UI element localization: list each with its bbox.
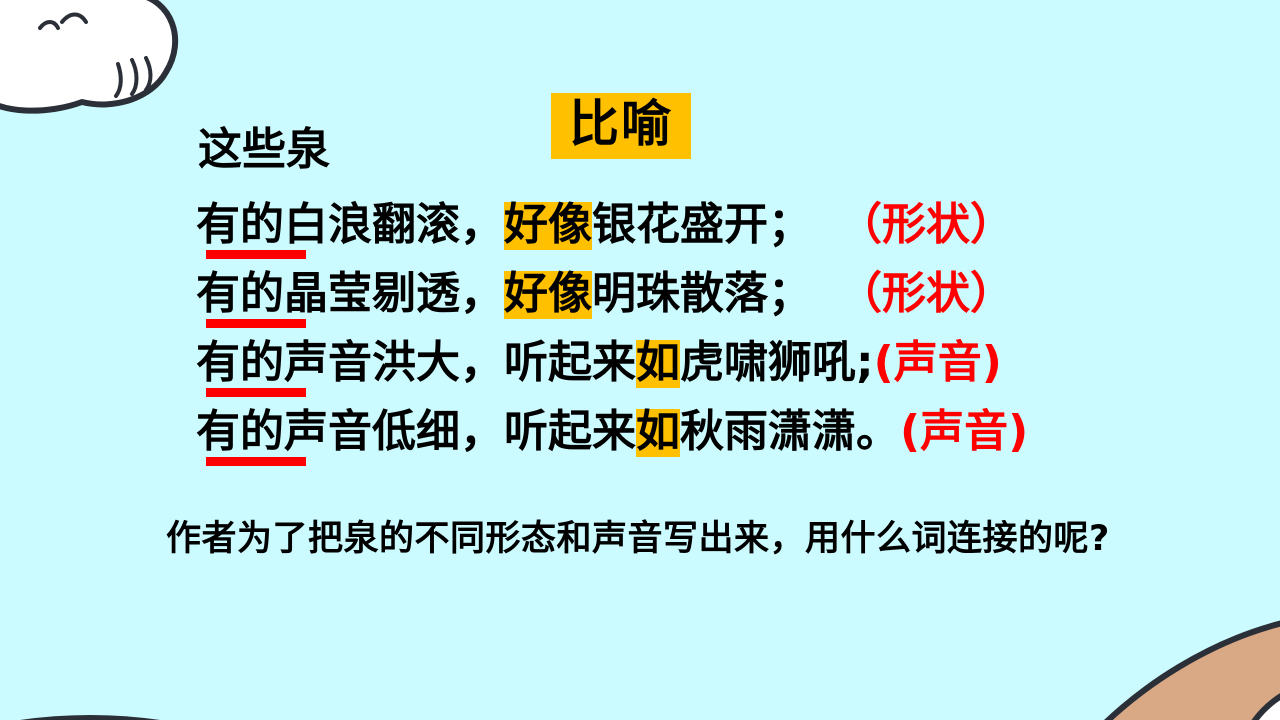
question-text: 作者为了把泉的不同形态和声音写出来，用什么词连接的呢? (166, 516, 1126, 562)
line-subject: 有的 (196, 341, 284, 385)
line-connector: 如 (636, 340, 680, 388)
subject-underline (206, 388, 306, 397)
line-body: 声音低细，听起来 (284, 410, 636, 454)
line-body: 白浪翻滚， (284, 203, 504, 247)
line-predicate: 秋雨潇潇。 (680, 410, 900, 454)
intro-line: 这些泉 (198, 128, 330, 172)
poem-line-3: 有的声音洪大，听起来如虎啸狮吼;(声音) (196, 340, 1002, 388)
poem-text-block: 这些泉 有的白浪翻滚，好像银花盛开；（形状） 有的晶莹剔透，好像明珠散落；（形状… (0, 0, 1280, 720)
line-predicate: 虎啸狮吼; (680, 341, 874, 385)
line-connector: 好像 (504, 202, 592, 250)
poem-line-4: 有的声音低细，听起来如秋雨潇潇。(声音) (196, 409, 1028, 457)
line-subject: 有的 (196, 203, 284, 247)
subject-underline (206, 250, 306, 259)
line-tag: （形状） (838, 203, 1014, 247)
line-body: 晶莹剔透， (284, 272, 504, 316)
line-subject: 有的 (196, 410, 284, 454)
subject-underline (206, 457, 306, 466)
slide-canvas: 比喻 这些泉 有的白浪翻滚，好像银花盛开；（形状） 有的晶莹剔透，好像明珠散落；… (0, 0, 1280, 720)
line-predicate: 明珠散落； (592, 272, 812, 316)
line-subject: 有的 (196, 272, 284, 316)
poem-line-2: 有的晶莹剔透，好像明珠散落；（形状） (196, 271, 1014, 319)
intro-text: 这些泉 (198, 128, 330, 172)
line-connector: 好像 (504, 271, 592, 319)
line-body: 声音洪大，听起来 (284, 341, 636, 385)
line-connector: 如 (636, 409, 680, 457)
line-tag: (声音) (874, 341, 1002, 385)
subject-underline (206, 319, 306, 328)
line-predicate: 银花盛开； (592, 203, 812, 247)
line-tag: (声音) (900, 410, 1028, 454)
line-tag: （形状） (838, 272, 1014, 316)
poem-line-1: 有的白浪翻滚，好像银花盛开；（形状） (196, 202, 1014, 250)
